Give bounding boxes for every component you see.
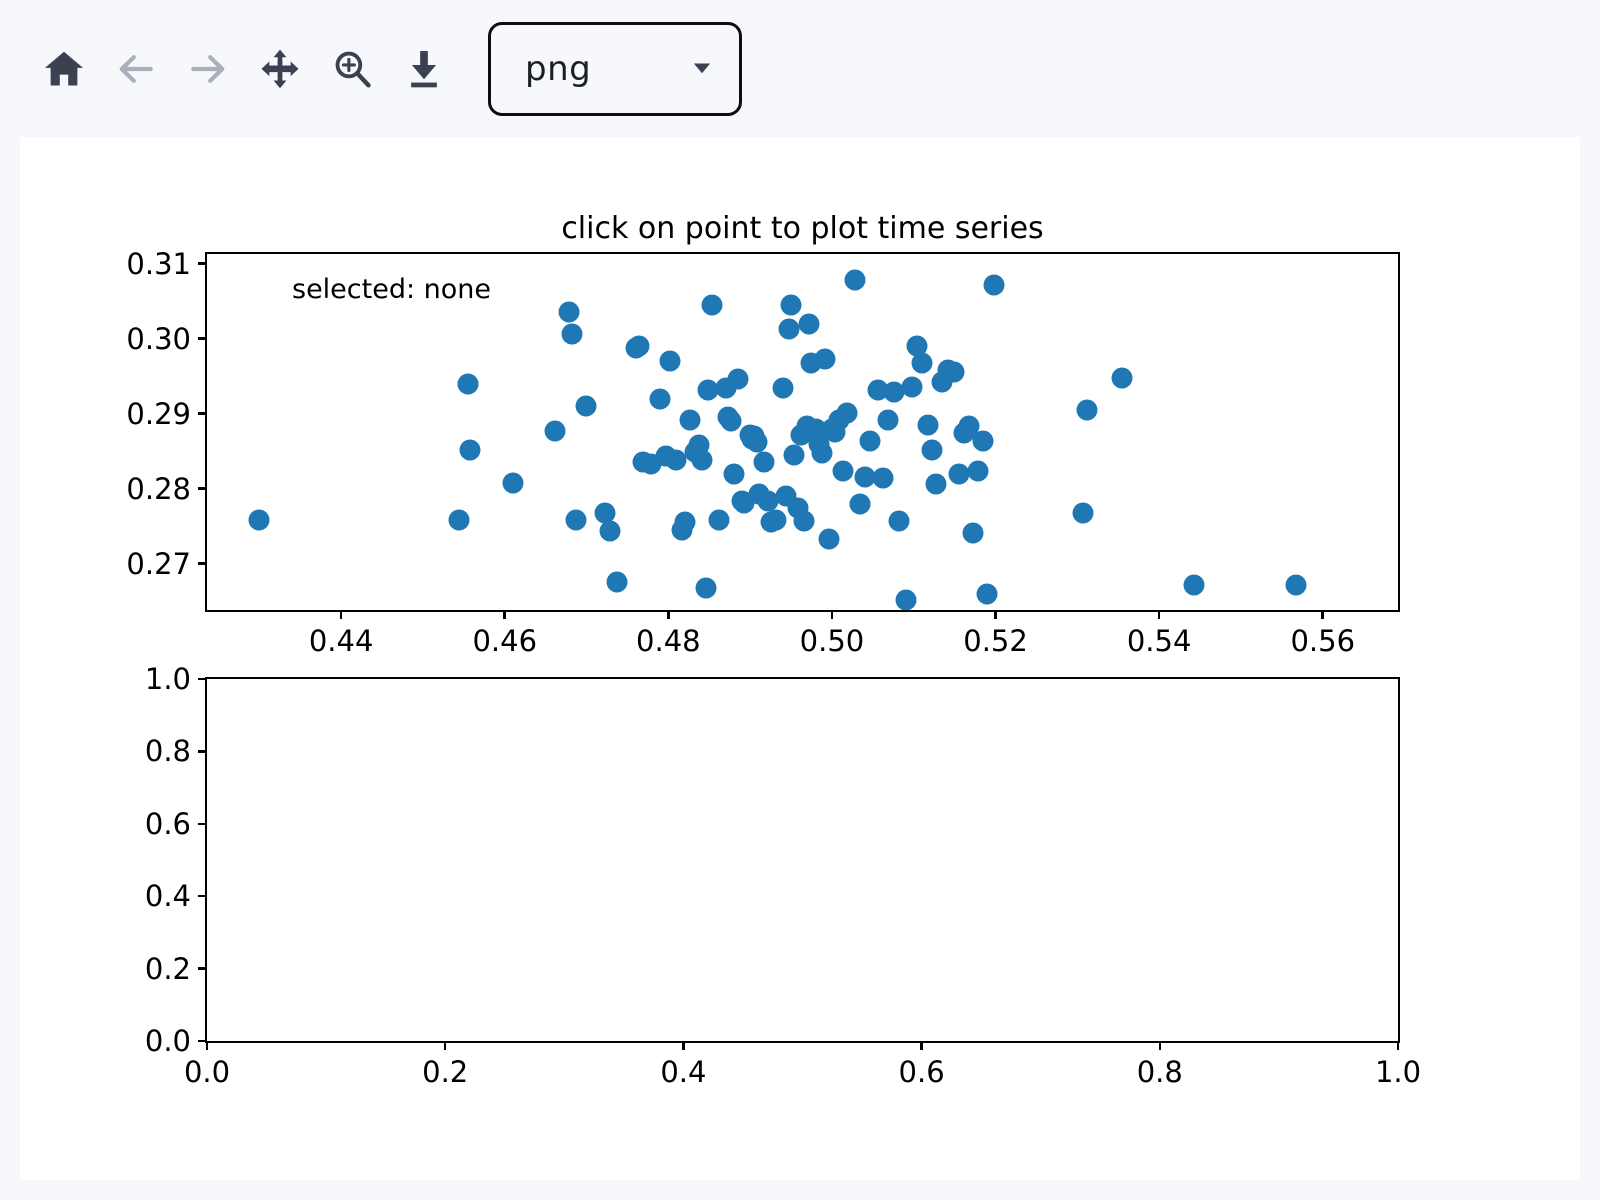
scatter-point[interactable] <box>502 472 523 493</box>
scatter-point[interactable] <box>812 442 833 463</box>
y-tick-label: 0.27 <box>126 547 191 581</box>
x-tick-label: 0.4 <box>660 1055 706 1089</box>
scatter-point[interactable] <box>1183 574 1204 595</box>
scatter-point[interactable] <box>558 301 579 322</box>
scatter-point[interactable] <box>674 511 695 532</box>
scatter-point[interactable] <box>943 362 964 383</box>
scatter-point[interactable] <box>701 294 722 315</box>
zoom-button[interactable] <box>316 33 388 105</box>
y-tick-label: 0.0 <box>145 1024 191 1058</box>
x-tick-mark <box>682 1041 685 1050</box>
scatter-point[interactable] <box>779 318 800 339</box>
y-tick-label: 0.8 <box>145 734 191 768</box>
x-tick-label: 1.0 <box>1375 1055 1421 1089</box>
y-tick-mark <box>198 750 207 753</box>
x-tick-label: 0.2 <box>422 1055 468 1089</box>
scatter-point[interactable] <box>983 274 1004 295</box>
x-tick-label: 0.54 <box>1127 624 1192 658</box>
y-tick-mark <box>198 262 207 265</box>
scatter-point[interactable] <box>248 510 269 531</box>
y-tick-mark <box>198 337 207 340</box>
x-tick-mark <box>994 610 997 619</box>
back-arrow-icon <box>114 47 158 91</box>
home-icon <box>42 47 86 91</box>
scatter-point[interactable] <box>784 444 805 465</box>
scatter-point[interactable] <box>849 494 870 515</box>
y-tick-mark <box>198 967 207 970</box>
scatter-point[interactable] <box>772 378 793 399</box>
y-tick-mark <box>198 678 207 681</box>
scatter-point[interactable] <box>720 411 741 432</box>
x-tick-mark <box>444 1041 447 1050</box>
scatter-point[interactable] <box>967 461 988 482</box>
scatter-point[interactable] <box>709 510 730 531</box>
back-button[interactable] <box>100 33 172 105</box>
forward-button[interactable] <box>172 33 244 105</box>
x-tick-label: 0.56 <box>1290 624 1355 658</box>
x-tick-mark <box>1321 610 1324 619</box>
y-tick-mark <box>198 895 207 898</box>
scatter-point[interactable] <box>1285 574 1306 595</box>
y-tick-label: 0.29 <box>126 397 191 431</box>
scatter-point[interactable] <box>600 520 621 541</box>
scatter-point[interactable] <box>1077 399 1098 420</box>
file-format-value: png <box>525 49 591 89</box>
scatter-point[interactable] <box>679 410 700 431</box>
scatter-point[interactable] <box>799 313 820 334</box>
y-tick-mark <box>198 823 207 826</box>
x-tick-mark <box>340 610 343 619</box>
scatter-point[interactable] <box>818 528 839 549</box>
scatter-point[interactable] <box>962 522 983 543</box>
y-tick-label: 1.0 <box>145 662 191 696</box>
y-tick-mark <box>198 412 207 415</box>
scatter-plot-title: click on point to plot time series <box>205 211 1400 246</box>
scatter-point[interactable] <box>665 450 686 471</box>
scatter-point[interactable] <box>723 463 744 484</box>
scatter-point[interactable] <box>1112 367 1133 388</box>
x-tick-mark <box>1397 1041 1400 1050</box>
scatter-point[interactable] <box>911 352 932 373</box>
y-tick-label: 0.28 <box>126 472 191 506</box>
x-tick-label: 0.8 <box>1137 1055 1183 1089</box>
scatter-points-layer[interactable] <box>207 254 1398 610</box>
y-tick-label: 0.30 <box>126 322 191 356</box>
scatter-point[interactable] <box>895 589 916 610</box>
scatter-point[interactable] <box>815 348 836 369</box>
scatter-point[interactable] <box>918 414 939 435</box>
scatter-point[interactable] <box>448 510 469 531</box>
scatter-point[interactable] <box>575 396 596 417</box>
x-tick-mark <box>1159 1041 1162 1050</box>
download-button[interactable] <box>388 33 460 105</box>
download-icon <box>402 47 446 91</box>
x-tick-mark <box>1158 610 1161 619</box>
scatter-point[interactable] <box>1073 502 1094 523</box>
scatter-point[interactable] <box>902 377 923 398</box>
scatter-point[interactable] <box>873 468 894 489</box>
pan-move-icon <box>258 47 302 91</box>
y-tick-mark <box>198 487 207 490</box>
scatter-point[interactable] <box>836 402 857 423</box>
scatter-point[interactable] <box>766 510 787 531</box>
y-tick-label: 0.2 <box>145 952 191 986</box>
scatter-point[interactable] <box>695 577 716 598</box>
scatter-point[interactable] <box>727 369 748 390</box>
x-tick-mark <box>206 1041 209 1050</box>
scatter-point[interactable] <box>650 388 671 409</box>
scatter-plot-axes[interactable]: selected: none 0.440.460.480.500.520.540… <box>205 252 1400 612</box>
scatter-point[interactable] <box>794 510 815 531</box>
scatter-point[interactable] <box>833 460 854 481</box>
scatter-point[interactable] <box>754 451 775 472</box>
y-tick-label: 0.6 <box>145 807 191 841</box>
zoom-magnifier-icon <box>330 47 374 91</box>
app-root: png click on point to plot time series s… <box>0 0 1600 1200</box>
scatter-point[interactable] <box>977 584 998 605</box>
figure-canvas[interactable]: click on point to plot time series selec… <box>20 137 1580 1180</box>
x-tick-label: 0.50 <box>800 624 865 658</box>
scatter-point[interactable] <box>781 294 802 315</box>
file-format-select[interactable]: png <box>488 22 742 116</box>
scatter-point[interactable] <box>459 439 480 460</box>
forward-arrow-icon <box>186 47 230 91</box>
home-button[interactable] <box>28 33 100 105</box>
x-tick-mark <box>503 610 506 619</box>
matplotlib-toolbar: png <box>0 0 1600 137</box>
scatter-point[interactable] <box>746 432 767 453</box>
pan-button[interactable] <box>244 33 316 105</box>
x-tick-mark <box>920 1041 923 1050</box>
y-tick-label: 0.31 <box>126 247 191 281</box>
scatter-point[interactable] <box>973 430 994 451</box>
scatter-point[interactable] <box>628 336 649 357</box>
scatter-point[interactable] <box>878 409 899 430</box>
scatter-point[interactable] <box>860 431 881 452</box>
y-tick-mark <box>198 1040 207 1043</box>
x-tick-label: 0.52 <box>963 624 1028 658</box>
scatter-point[interactable] <box>948 463 969 484</box>
scatter-point[interactable] <box>561 324 582 345</box>
scatter-point[interactable] <box>544 420 565 441</box>
scatter-point[interactable] <box>889 510 910 531</box>
scatter-point[interactable] <box>659 351 680 372</box>
x-tick-label: 0.44 <box>309 624 374 658</box>
timeseries-plot-axes[interactable]: 0.00.20.40.60.81.00.00.20.40.60.81.0 <box>205 677 1400 1043</box>
y-tick-label: 0.4 <box>145 879 191 913</box>
scatter-point[interactable] <box>921 439 942 460</box>
x-tick-mark <box>667 610 670 619</box>
chevron-down-icon <box>687 52 717 86</box>
x-tick-label: 0.6 <box>899 1055 945 1089</box>
x-tick-mark <box>831 610 834 619</box>
scatter-point[interactable] <box>457 373 478 394</box>
scatter-point[interactable] <box>925 474 946 495</box>
y-tick-mark <box>198 562 207 565</box>
scatter-point[interactable] <box>606 571 627 592</box>
x-tick-label: 0.0 <box>184 1055 230 1089</box>
scatter-point[interactable] <box>844 270 865 291</box>
scatter-point[interactable] <box>565 510 586 531</box>
x-tick-label: 0.48 <box>636 624 701 658</box>
x-tick-label: 0.46 <box>472 624 537 658</box>
scatter-point[interactable] <box>691 450 712 471</box>
